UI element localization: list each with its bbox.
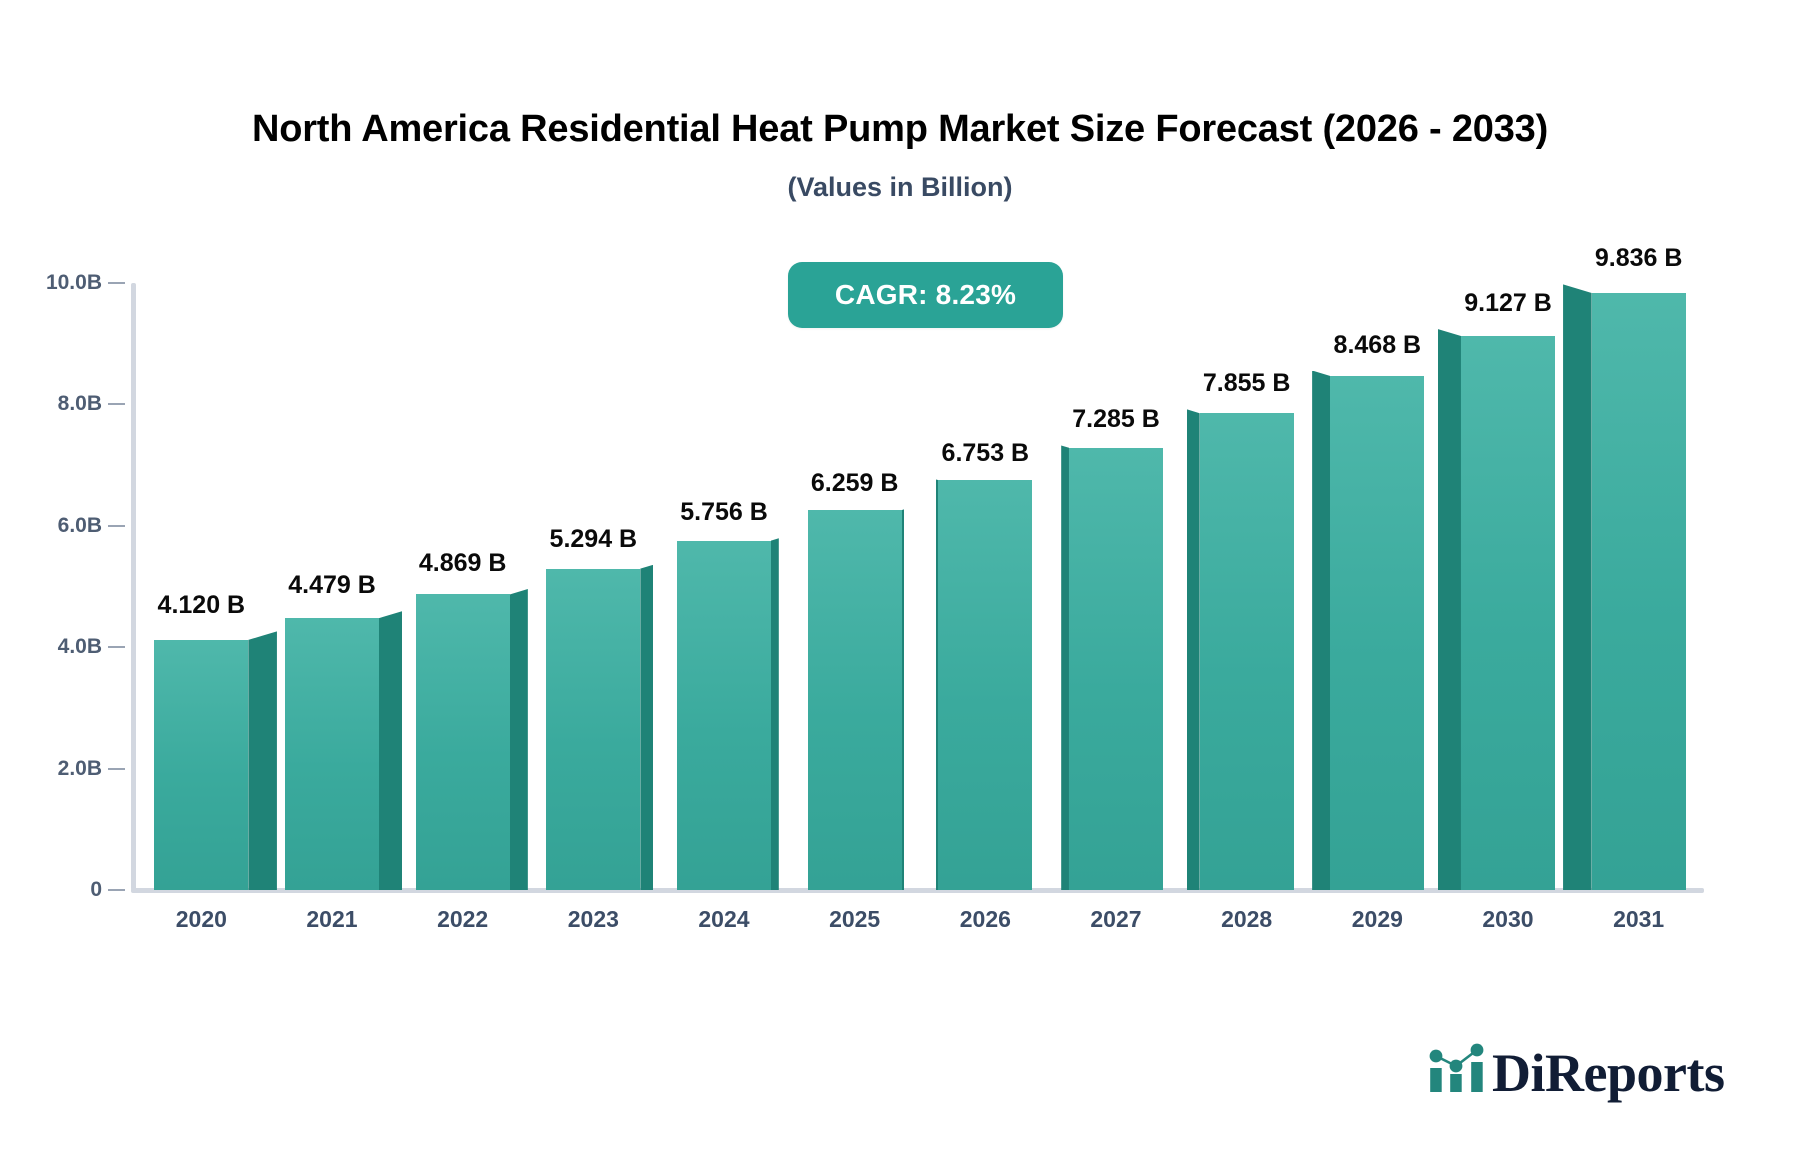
y-axis-tick-label-text: 8.0B (58, 392, 102, 416)
x-axis-label-2024: 2024 (659, 906, 790, 933)
bar-2027[interactable]: 7.285 B (0, 0, 1800, 1156)
y-axis-tick-mark (108, 768, 125, 770)
y-axis-tick-label-text: 4.0B (58, 635, 102, 659)
bar-front-face (416, 594, 510, 890)
bar-front-face (1069, 448, 1163, 890)
bar-value-label: 5.294 B (498, 525, 688, 554)
y-axis-tick-label-text: 2.0B (58, 757, 102, 781)
x-axis-label-2021: 2021 (267, 906, 398, 933)
bar-value-label: 8.468 B (1282, 331, 1472, 360)
y-axis-line (131, 283, 136, 890)
bar-value-label: 4.869 B (368, 549, 558, 578)
x-axis-label-2030: 2030 (1443, 906, 1574, 933)
bar-value-label: 4.479 B (237, 571, 427, 600)
bar-value-label: 6.753 B (890, 439, 1080, 468)
direports-logo: DiReports (1428, 1040, 1724, 1099)
x-axis-label-2023: 2023 (528, 906, 659, 933)
bar-side-face (771, 538, 779, 890)
bar-side-face (1061, 445, 1069, 890)
bar-2030[interactable]: 9.127 B (0, 0, 1800, 1156)
bar-value-label: 5.756 B (629, 498, 819, 527)
y-axis-tick-label-text: 6.0B (58, 514, 102, 538)
bar-2020[interactable]: 4.120 B (0, 0, 1800, 1156)
chart-canvas: North America Residential Heat Pump Mark… (0, 0, 1800, 1156)
x-axis-label-2029: 2029 (1312, 906, 1443, 933)
bar-2031[interactable]: 9.836 B (0, 0, 1800, 1156)
bar-front-face (546, 569, 640, 890)
y-axis-tick-mark (108, 282, 125, 284)
bar-front-face (677, 541, 771, 890)
bar-front-face (938, 480, 1032, 890)
bar-front-face (154, 640, 248, 890)
y-axis-tick-label-text: 0 (90, 878, 102, 902)
bar-value-label: 7.855 B (1152, 369, 1342, 398)
bar-chart-icon (1428, 1040, 1486, 1099)
x-axis-label-2022: 2022 (397, 906, 528, 933)
plot-area: 02.0B4.0B6.0B8.0B10.0B4.120 B20204.479 B… (0, 0, 1800, 1156)
bar-front-face (1330, 376, 1424, 890)
bar-value-label: 6.259 B (760, 469, 950, 498)
y-axis-tick-mark (108, 403, 125, 405)
bar-side-face (1187, 409, 1200, 890)
bar-side-face (379, 611, 402, 890)
bar-2029[interactable]: 8.468 B (0, 0, 1800, 1156)
bar-value-label: 7.285 B (1021, 405, 1211, 434)
bar-front-face (285, 618, 379, 890)
y-axis-tick-mark (108, 525, 125, 527)
bar-2023[interactable]: 5.294 B (0, 0, 1800, 1156)
bar-front-face (1592, 293, 1686, 890)
x-axis-label-2025: 2025 (789, 906, 920, 933)
bar-side-face (902, 509, 905, 890)
bar-side-face (1563, 284, 1592, 890)
bar-value-label: 9.127 B (1413, 289, 1603, 318)
bar-side-face (640, 565, 653, 890)
logo-text: DiReports (1492, 1049, 1724, 1099)
bar-front-face (1200, 413, 1294, 890)
bar-front-face (1461, 336, 1555, 890)
bar-side-face (510, 589, 528, 890)
bar-value-label: 9.836 B (1544, 244, 1734, 273)
bar-2022[interactable]: 4.869 B (0, 0, 1800, 1156)
bar-side-face (1312, 371, 1330, 890)
y-axis-tick-mark (108, 889, 125, 891)
y-axis-tick-mark (108, 646, 125, 648)
x-axis-label-2027: 2027 (1051, 906, 1182, 933)
bar-2026[interactable]: 6.753 B (0, 0, 1800, 1156)
bar-2028[interactable]: 7.855 B (0, 0, 1800, 1156)
x-axis-line (131, 888, 1704, 893)
x-axis-label-2031: 2031 (1573, 906, 1704, 933)
bar-side-face (1438, 329, 1461, 890)
x-axis-label-2028: 2028 (1181, 906, 1312, 933)
bar-2021[interactable]: 4.479 B (0, 0, 1800, 1156)
x-axis-label-2026: 2026 (920, 906, 1051, 933)
y-axis-tick-label-text: 10.0B (46, 271, 102, 295)
bar-side-face (248, 631, 277, 890)
x-axis-label-2020: 2020 (136, 906, 267, 933)
bar-front-face (808, 510, 902, 890)
bar-side-face (936, 479, 939, 890)
bar-2025[interactable]: 6.259 B (0, 0, 1800, 1156)
bar-2024[interactable]: 5.756 B (0, 0, 1800, 1156)
